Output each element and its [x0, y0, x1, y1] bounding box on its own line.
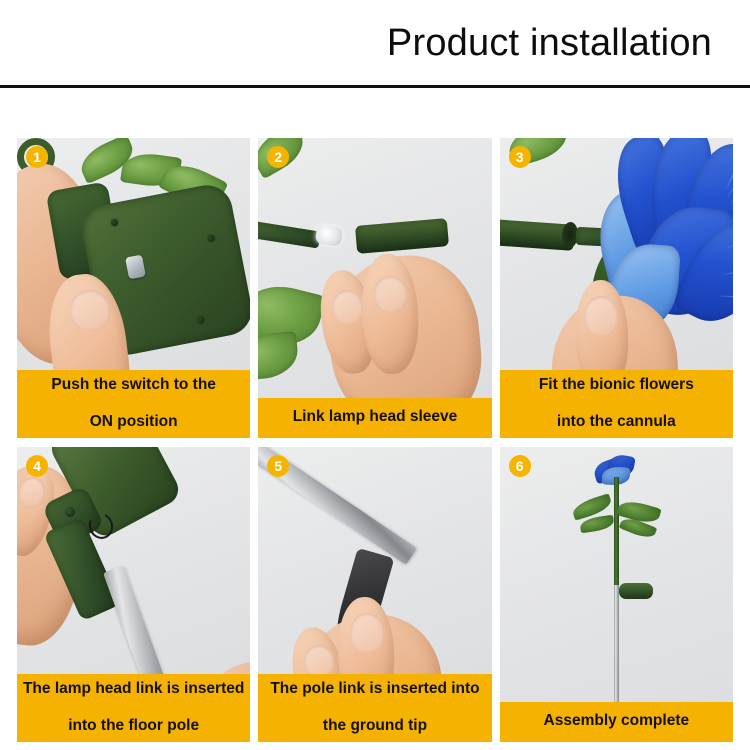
step-card-6[interactable]: 6 Assembly complete: [500, 447, 733, 742]
step-card-1[interactable]: 1 Push the switch to the ON position: [17, 138, 250, 438]
step-caption-1: Push the switch to the ON position: [17, 370, 250, 438]
lamp-head-sleeve: [355, 218, 449, 254]
leaf-icon: [258, 331, 300, 381]
screw-icon: [197, 316, 205, 324]
step-photo-1: 1: [17, 138, 250, 370]
step-photo-4: 4: [17, 447, 250, 674]
solar-lamp-head: [619, 583, 653, 599]
step-photo-5: 5: [258, 447, 491, 674]
page-header: Product installation: [0, 0, 750, 88]
led-bulb: [315, 224, 344, 247]
step-caption-2: Link lamp head sleeve: [258, 398, 491, 438]
step-number-badge-3: 3: [509, 146, 531, 168]
step-number-badge-6: 6: [509, 455, 531, 477]
fingernail: [583, 295, 618, 336]
step-photo-2: 2: [258, 138, 491, 398]
flower-stem: [614, 477, 619, 589]
caption-line: the ground tip: [262, 717, 487, 735]
step-photo-3: 3: [500, 138, 733, 370]
installation-steps-grid: 1 Push the switch to the ON position: [17, 138, 733, 742]
screw-icon: [110, 219, 118, 227]
caption-line: Fit the bionic flowers: [504, 376, 729, 394]
step-caption-5: The pole link is inserted into the groun…: [258, 674, 491, 742]
step-photo-6: 6: [500, 447, 733, 702]
caption-line: Link lamp head sleeve: [262, 408, 487, 426]
step-number-badge-1: 1: [26, 146, 48, 168]
lamp-stem: [258, 220, 321, 248]
caption-line: Push the switch to the: [21, 376, 246, 394]
caption-line: The lamp head link is inserted: [21, 680, 246, 698]
screw-icon: [207, 234, 215, 242]
caption-line: into the cannula: [504, 413, 729, 431]
caption-line: Assembly complete: [504, 712, 729, 730]
step-caption-4: The lamp head link is inserted into the …: [17, 674, 250, 742]
step-card-3[interactable]: 3: [500, 138, 733, 438]
page-title: Product installation: [387, 24, 712, 62]
supporting-hand: [196, 652, 250, 674]
step-number-badge-4: 4: [26, 455, 48, 477]
joint-screw-icon: [65, 507, 75, 517]
steel-pole: [614, 585, 619, 702]
step-card-5[interactable]: 5 The pole link is inserted into the gro…: [258, 447, 491, 742]
caption-line: into the floor pole: [21, 717, 246, 735]
step-card-4[interactable]: 4 The lamp head link is inserted into th…: [17, 447, 250, 742]
caption-line: The pole link is inserted into: [262, 680, 487, 698]
step-caption-6: Assembly complete: [500, 702, 733, 742]
step-card-2[interactable]: 2 Link lamp head sleeve: [258, 138, 491, 438]
step-caption-3: Fit the bionic flowers into the cannula: [500, 370, 733, 438]
floor-pole: [103, 565, 199, 674]
assembled-product: [500, 447, 733, 702]
caption-line: ON position: [21, 413, 246, 431]
